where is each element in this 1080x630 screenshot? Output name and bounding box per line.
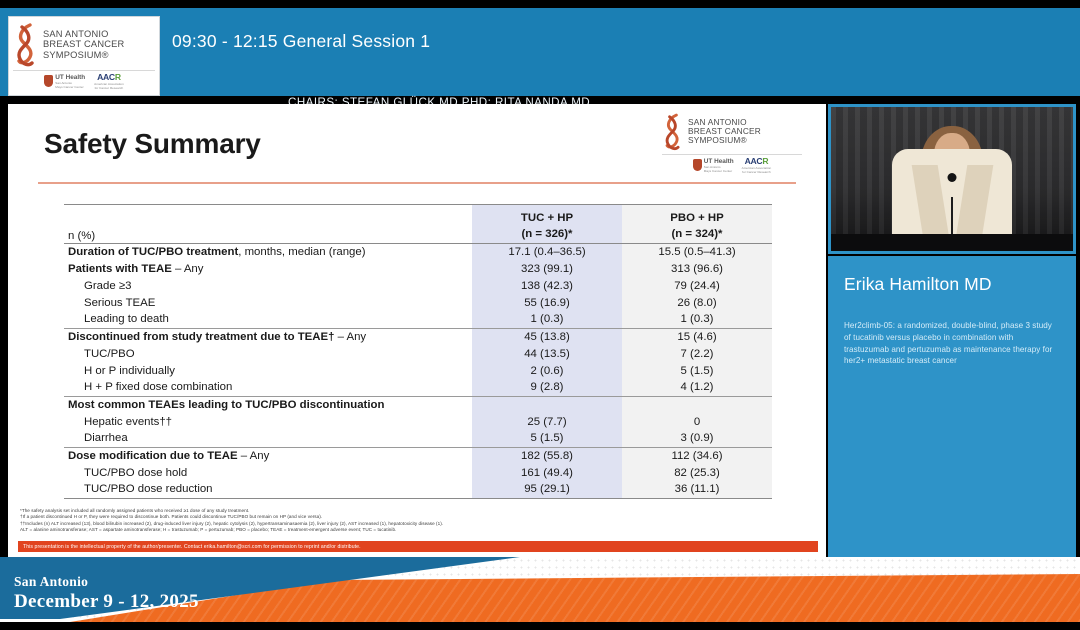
speaker-name: Erika Hamilton MD xyxy=(844,274,992,295)
table-row: Patients with TEAE – Any323 (99.1)313 (9… xyxy=(64,261,772,278)
aacr-sub1: American Association xyxy=(94,82,124,86)
row-label: Most common TEAEs leading to TUC/PBO dis… xyxy=(64,397,472,414)
aacr-sub2-slide: for Cancer Research xyxy=(742,170,772,174)
table-row: Serious TEAE55 (16.9)26 (8.0) xyxy=(64,295,772,312)
col-tuc-name: TUC + HP xyxy=(472,210,622,227)
sabcs-logo-header: SAN ANTONIO BREAST CANCER SYMPOSIUM® UT … xyxy=(8,16,160,96)
session-time-and-title: 09:30 - 12:15 General Session 1 xyxy=(172,31,430,52)
ut-health-sub2-slide: Mays Cancer Center xyxy=(704,169,734,173)
cell-tuc: 9 (2.8) xyxy=(472,380,622,397)
sabcs-logo-main: SAN ANTONIO BREAST CANCER SYMPOSIUM® xyxy=(13,23,155,67)
table-body: Duration of TUC/PBO treatment, months, m… xyxy=(64,244,772,499)
row-label: TUC/PBO dose reduction xyxy=(64,482,472,499)
letterbox-top xyxy=(0,0,1080,8)
cell-pbo: 1 (0.3) xyxy=(622,312,772,329)
row-label: Leading to death xyxy=(64,312,472,329)
footer-city: San Antonio xyxy=(14,574,199,590)
footer-band: San Antonio December 9 - 12, 2025 xyxy=(0,557,1080,622)
row-label-main: Serious TEAE xyxy=(84,297,155,309)
table-row: Grade ≥3138 (42.3)79 (24.4) xyxy=(64,278,772,295)
row-label-main: TUC/PBO xyxy=(84,348,135,360)
row-label: H or P individually xyxy=(64,363,472,380)
table-row: TUC/PBO dose reduction95 (29.1)36 (11.1) xyxy=(64,482,772,499)
aacr-sub1-slide: American Association xyxy=(742,166,772,170)
row-label-qualifier: – Any xyxy=(172,263,204,275)
row-label: Hepatic events†† xyxy=(64,414,472,431)
row-label-main: Most common TEAEs leading to TUC/PBO dis… xyxy=(68,399,384,411)
cell-pbo xyxy=(622,397,772,414)
row-label: Patients with TEAE – Any xyxy=(64,261,472,278)
cell-tuc: 182 (55.8) xyxy=(472,448,622,465)
aacr-logo: AACR American Association for Cancer Res… xyxy=(94,73,124,90)
table-header-row-1: TUC + HP PBO + HP xyxy=(64,210,772,227)
cell-pbo: 0 xyxy=(622,414,772,431)
footer-event-info: San Antonio December 9 - 12, 2025 xyxy=(14,574,199,613)
col-label-header: n (%) xyxy=(64,227,472,244)
sabcs-ribbon-icon-slide xyxy=(662,113,684,151)
row-label: Grade ≥3 xyxy=(64,278,472,295)
table-row: H + P fixed dose combination9 (2.8)4 (1.… xyxy=(64,380,772,397)
aacr-logo-slide: AACR American Association for Cancer Res… xyxy=(742,157,772,174)
table-row: Dose modification due to TEAE – Any182 (… xyxy=(64,448,772,465)
ut-health-logo: UT Health San Antonio Mays Cancer Center xyxy=(44,74,85,89)
copyright-text: This presentation is the intellectual pr… xyxy=(18,544,361,550)
cell-tuc: 25 (7.7) xyxy=(472,414,622,431)
slide-logo-divider xyxy=(662,154,802,155)
letterbox-bottom xyxy=(0,622,1080,630)
table-row: H or P individually2 (0.6)5 (1.5) xyxy=(64,363,772,380)
cell-pbo: 313 (96.6) xyxy=(622,261,772,278)
row-label: Serious TEAE xyxy=(64,295,472,312)
slide-title-underline xyxy=(38,182,796,184)
cell-pbo: 26 (8.0) xyxy=(622,295,772,312)
row-label-qualifier: , months, median (range) xyxy=(238,246,365,258)
table-header-row-2: n (%) (n = 326)* (n = 324)* xyxy=(64,227,772,244)
row-label-main: Hepatic events†† xyxy=(84,416,172,428)
ut-health-sub2: Mays Cancer Center xyxy=(55,85,85,89)
table-row: TUC/PBO44 (13.5)7 (2.2) xyxy=(64,346,772,363)
cell-tuc: 17.1 (0.4–36.5) xyxy=(472,244,622,261)
row-label-main: Discontinued from study treatment due to… xyxy=(68,331,334,343)
cell-tuc: 95 (29.1) xyxy=(472,482,622,499)
ut-shield-icon-slide xyxy=(693,159,702,171)
row-label-main: TUC/PBO dose reduction xyxy=(84,483,213,495)
microphone-icon xyxy=(948,173,957,182)
row-label: Dose modification due to TEAE – Any xyxy=(64,448,472,465)
aacr-wordmark: AACR xyxy=(94,73,124,82)
col-pbo-n: (n = 324)* xyxy=(622,227,772,244)
row-label-main: TUC/PBO dose hold xyxy=(84,467,187,479)
sabcs-logo-text: SAN ANTONIO BREAST CANCER SYMPOSIUM® xyxy=(43,29,124,60)
cell-pbo: 7 (2.2) xyxy=(622,346,772,363)
slide-title: Safety Summary xyxy=(44,128,261,160)
cell-tuc: 2 (0.6) xyxy=(472,363,622,380)
row-label: TUC/PBO dose hold xyxy=(64,465,472,482)
table-row: Diarrhea5 (1.5)3 (0.9) xyxy=(64,431,772,448)
footnote-line: ALT = alanine aminotransferase; AST = as… xyxy=(20,527,810,533)
cell-pbo: 4 (1.2) xyxy=(622,380,772,397)
cell-pbo: 3 (0.9) xyxy=(622,431,772,448)
row-label: TUC/PBO xyxy=(64,346,472,363)
cell-pbo: 82 (25.3) xyxy=(622,465,772,482)
cell-tuc: 45 (13.8) xyxy=(472,329,622,346)
table-row: Hepatic events††25 (7.7)0 xyxy=(64,414,772,431)
row-label-qualifier: – Any xyxy=(334,331,366,343)
ut-health-logo-slide: UT Health San Antonio Mays Cancer Center xyxy=(693,158,734,173)
sabcs-logo-slide: SAN ANTONIO BREAST CANCER SYMPOSIUM® UT … xyxy=(662,110,802,176)
row-label: Discontinued from study treatment due to… xyxy=(64,329,472,346)
sabcs-slide-line3: SYMPOSIUM® xyxy=(688,136,761,145)
row-label-qualifier: – Any xyxy=(238,450,270,462)
session-header: SAN ANTONIO BREAST CANCER SYMPOSIUM® UT … xyxy=(0,8,1080,96)
col-pbo-name: PBO + HP xyxy=(622,210,772,227)
cell-tuc: 1 (0.3) xyxy=(472,312,622,329)
cell-pbo: 15 (4.6) xyxy=(622,329,772,346)
cell-tuc: 323 (99.1) xyxy=(472,261,622,278)
table-header: TUC + HP PBO + HP n (%) (n = 326)* (n = … xyxy=(64,205,772,244)
cell-pbo: 36 (11.1) xyxy=(622,482,772,499)
safety-summary-table: TUC + HP PBO + HP n (%) (n = 326)* (n = … xyxy=(64,204,772,499)
logo-divider xyxy=(13,70,155,71)
row-label-main: H + P fixed dose combination xyxy=(84,381,232,393)
sabcs-logo-line3: SYMPOSIUM® xyxy=(43,50,124,60)
row-label-main: Duration of TUC/PBO treatment xyxy=(68,246,238,258)
sabcs-logo-slide-main: SAN ANTONIO BREAST CANCER SYMPOSIUM® xyxy=(662,113,802,151)
presentation-slide: Safety Summary SAN ANTONIO BREAST CANCER… xyxy=(8,104,826,557)
table-row: Discontinued from study treatment due to… xyxy=(64,329,772,346)
table-row: Most common TEAEs leading to TUC/PBO dis… xyxy=(64,397,772,414)
row-label: Duration of TUC/PBO treatment, months, m… xyxy=(64,244,472,261)
row-label: Diarrhea xyxy=(64,431,472,448)
cell-tuc: 55 (16.9) xyxy=(472,295,622,312)
podium xyxy=(831,234,1073,251)
table-row: Leading to death1 (0.3)1 (0.3) xyxy=(64,312,772,329)
row-label-main: Diarrhea xyxy=(84,432,128,444)
footer-dates: December 9 - 12, 2025 xyxy=(14,591,199,613)
sabcs-ribbon-icon xyxy=(13,23,39,67)
aacr-wordmark-slide: AACR xyxy=(742,157,772,166)
aacr-sub2: for Cancer Research xyxy=(94,86,124,90)
row-label: H + P fixed dose combination xyxy=(64,380,472,397)
cell-pbo: 15.5 (0.5–41.3) xyxy=(622,244,772,261)
cell-pbo: 5 (1.5) xyxy=(622,363,772,380)
cell-tuc xyxy=(472,397,622,414)
cell-pbo: 112 (34.6) xyxy=(622,448,772,465)
copyright-bar: This presentation is the intellectual pr… xyxy=(18,541,818,552)
slide-footnotes: *The safety analysis set included all ra… xyxy=(20,508,810,533)
row-label-main: Grade ≥3 xyxy=(84,280,131,292)
speaker-abstract-title: Her2climb-05: a randomized, double-blind… xyxy=(844,320,1060,367)
row-label-main: Dose modification due to TEAE xyxy=(68,450,238,462)
sabcs-logo-line2: BREAST CANCER xyxy=(43,39,124,49)
sabcs-slide-partners: UT Health San Antonio Mays Cancer Center… xyxy=(662,157,802,174)
cell-tuc: 138 (42.3) xyxy=(472,278,622,295)
cell-tuc: 161 (49.4) xyxy=(472,465,622,482)
col-tuc-n: (n = 326)* xyxy=(472,227,622,244)
sabcs-logo-slide-text: SAN ANTONIO BREAST CANCER SYMPOSIUM® xyxy=(688,118,761,146)
sabcs-logo-partners: UT Health San Antonio Mays Cancer Center… xyxy=(13,73,155,90)
speaker-info-panel: Erika Hamilton MD Her2climb-05: a random… xyxy=(828,256,1076,557)
row-label-main: Patients with TEAE xyxy=(68,263,172,275)
cell-pbo: 79 (24.4) xyxy=(622,278,772,295)
ut-health-name: UT Health xyxy=(55,74,85,81)
ut-shield-icon xyxy=(44,75,53,87)
speaker-video-panel[interactable] xyxy=(828,104,1076,254)
table-row: TUC/PBO dose hold161 (49.4)82 (25.3) xyxy=(64,465,772,482)
sabcs-logo-line1: SAN ANTONIO xyxy=(43,29,124,39)
speaker-video-frame[interactable] xyxy=(831,107,1073,251)
row-label-main: Leading to death xyxy=(84,313,169,325)
table-row: Duration of TUC/PBO treatment, months, m… xyxy=(64,244,772,261)
ut-health-name-slide: UT Health xyxy=(704,158,734,165)
screen: SAN ANTONIO BREAST CANCER SYMPOSIUM® UT … xyxy=(0,0,1080,630)
cell-tuc: 44 (13.5) xyxy=(472,346,622,363)
row-label-main: H or P individually xyxy=(84,365,175,377)
cell-tuc: 5 (1.5) xyxy=(472,431,622,448)
